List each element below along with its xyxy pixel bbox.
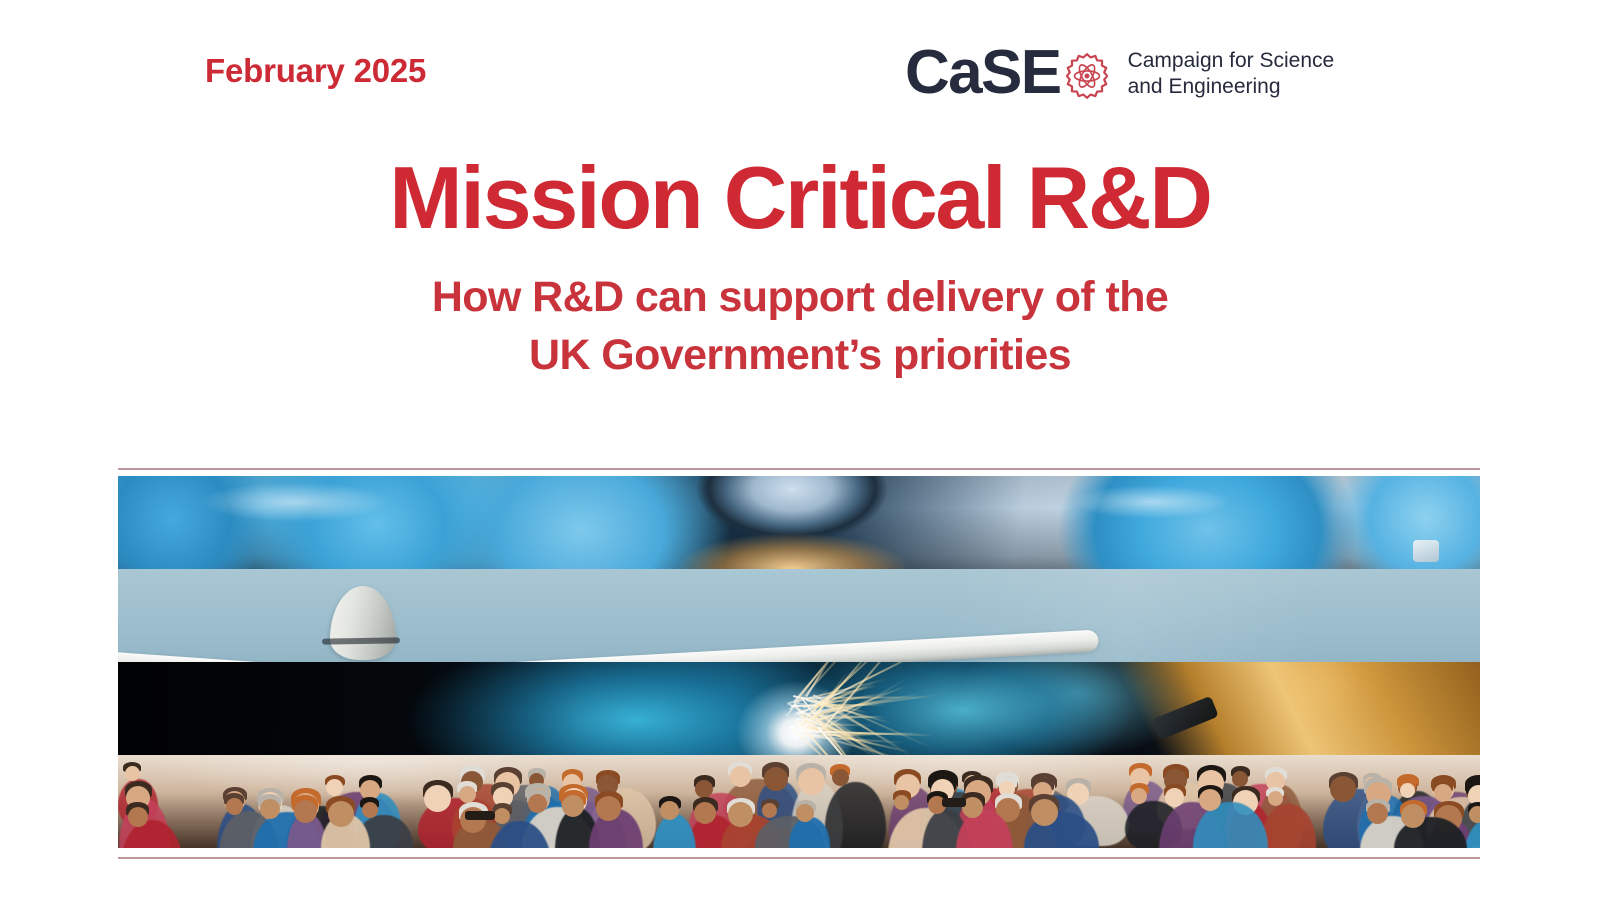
crowd-head bbox=[528, 794, 547, 813]
crowd-head bbox=[328, 801, 354, 827]
page-subtitle-line-2: UK Government’s priorities bbox=[0, 326, 1600, 384]
image-strip-welding-arc bbox=[118, 662, 1480, 755]
page-subtitle-line-1: How R&D can support delivery of the bbox=[0, 268, 1600, 326]
divider-bottom bbox=[118, 857, 1480, 859]
crowd-head bbox=[125, 766, 140, 781]
glove-highlight bbox=[1071, 485, 1231, 519]
atom-gear-icon bbox=[1063, 52, 1111, 100]
crowd-head bbox=[1268, 791, 1283, 806]
divider-top bbox=[118, 468, 1480, 470]
crowd-head bbox=[562, 795, 584, 817]
sunglasses-icon bbox=[942, 798, 966, 807]
cover-page: February 2025 CaSE Campaign for bbox=[0, 0, 1600, 900]
workshop-shadow bbox=[118, 662, 581, 755]
image-strip-laboratory-gloves-microscope bbox=[118, 476, 1480, 569]
crowd-head bbox=[294, 800, 317, 823]
case-tagline: Campaign for Science and Engineering bbox=[1128, 48, 1335, 100]
cover-image-band bbox=[118, 476, 1480, 846]
crowd-head bbox=[459, 786, 476, 803]
case-tagline-line-1: Campaign for Science bbox=[1128, 48, 1335, 74]
crowd-head bbox=[832, 769, 849, 786]
crowd-head bbox=[1469, 806, 1480, 823]
crowd-head bbox=[362, 802, 378, 818]
cover-title-area: Mission Critical R&D How R&D can support… bbox=[0, 150, 1600, 384]
case-wordmark: CaSE bbox=[905, 42, 1061, 104]
crowd-head bbox=[1434, 784, 1452, 802]
page-title: Mission Critical R&D bbox=[0, 150, 1600, 246]
crowd-head bbox=[226, 798, 243, 815]
crowd-head bbox=[260, 799, 280, 819]
crowd-head bbox=[128, 807, 148, 827]
crowd-head bbox=[764, 767, 788, 791]
crowd-head bbox=[494, 808, 510, 824]
turbine-blade bbox=[398, 629, 1098, 662]
image-strip-crowd-of-people bbox=[118, 755, 1480, 848]
crowd-head bbox=[1031, 799, 1058, 826]
sunglasses-icon bbox=[465, 811, 495, 820]
page-header: February 2025 CaSE Campaign for bbox=[0, 0, 1600, 140]
welding-torch bbox=[1151, 695, 1219, 739]
page-subtitle: How R&D can support delivery of the UK G… bbox=[0, 246, 1600, 384]
image-strip-wind-turbine bbox=[118, 569, 1480, 662]
crowd-head bbox=[730, 766, 751, 787]
case-tagline-line-2: and Engineering bbox=[1128, 74, 1335, 100]
crowd-head bbox=[424, 785, 451, 812]
crowd-head bbox=[596, 796, 621, 821]
case-logo: CaSE Campaign for Science and Engine bbox=[905, 38, 1334, 108]
crowd-head bbox=[798, 768, 825, 795]
crowd-head bbox=[1232, 771, 1248, 787]
crowd-head bbox=[1400, 783, 1415, 798]
bench-instrument bbox=[1413, 540, 1439, 562]
issue-date: February 2025 bbox=[205, 52, 426, 90]
crowd-head bbox=[1131, 788, 1147, 804]
crowd-head bbox=[660, 801, 679, 820]
crowd-head bbox=[694, 802, 716, 824]
turbine-blade bbox=[118, 649, 334, 662]
glove-highlight bbox=[200, 482, 390, 522]
turbine-nacelle bbox=[330, 586, 396, 660]
crowd-head bbox=[326, 779, 343, 796]
turbine-hub-band bbox=[322, 637, 400, 644]
